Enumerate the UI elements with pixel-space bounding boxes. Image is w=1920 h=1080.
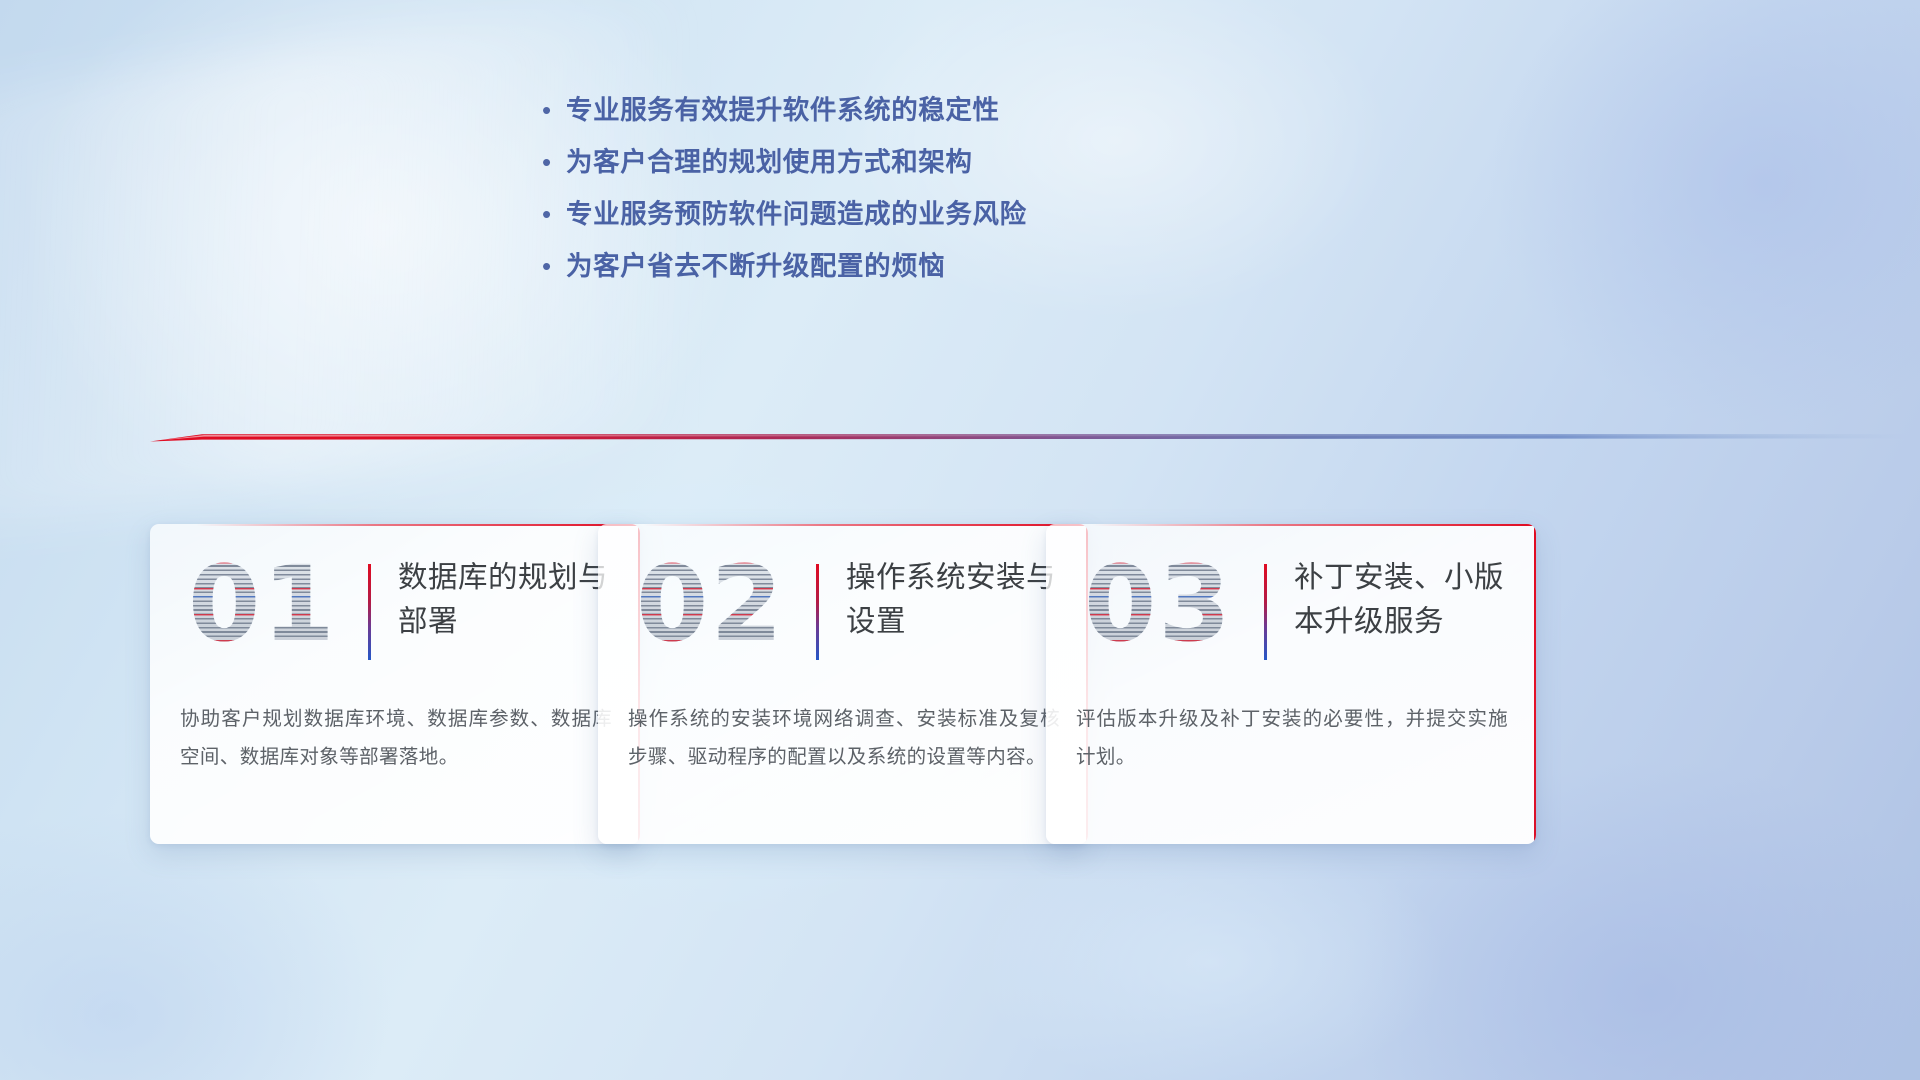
list-item: • 为客户省去不断升级配置的烦恼 (536, 244, 1296, 296)
bullet-point-icon: • (536, 253, 566, 279)
card-number-striped: 03 (1084, 552, 1226, 656)
card-number-striped: 02 (636, 552, 778, 656)
bullet-point-icon: • (536, 149, 566, 175)
bullet-label: 为客户合理的规划使用方式和架构 (566, 140, 973, 179)
list-item: • 专业服务有效提升软件系统的稳定性 (536, 88, 1296, 140)
service-card-01[interactable]: 01 01 数据库的规划与部署 协助客户规划数据库环境、数据库参数、数据库空间、… (150, 524, 640, 844)
card-header: 02 02 操作系统安装与设置 (628, 558, 1058, 676)
bullet-point-icon: • (536, 97, 566, 123)
card-description: 协助客户规划数据库环境、数据库参数、数据库空间、数据库对象等部署落地。 (180, 700, 612, 776)
bullet-label: 专业服务预防软件问题造成的业务风险 (566, 192, 1027, 231)
bullet-label: 为客户省去不断升级配置的烦恼 (566, 244, 945, 283)
service-card-03[interactable]: 03 03 补丁安装、小版本升级服务 评估版本升级及补丁安装的必要性，并提交实施… (1046, 524, 1536, 844)
card-number-watermark: 03 03 (1084, 552, 1226, 664)
card-description: 评估版本升级及补丁安装的必要性，并提交实施计划。 (1076, 700, 1508, 776)
card-title-divider-bar (368, 564, 371, 660)
divider-shape (150, 430, 1910, 446)
bullet-label: 专业服务有效提升软件系统的稳定性 (566, 88, 1000, 127)
service-cards: 01 01 数据库的规划与部署 协助客户规划数据库环境、数据库参数、数据库空间、… (150, 524, 1790, 844)
card-number-watermark: 02 02 (636, 552, 778, 664)
list-item: • 为客户合理的规划使用方式和架构 (536, 140, 1296, 192)
service-card-02[interactable]: 02 02 操作系统安装与设置 操作系统的安装环境网络调查、安装标准及复核步骤、… (598, 524, 1088, 844)
list-item: • 专业服务预防软件问题造成的业务风险 (536, 192, 1296, 244)
card-header: 03 03 补丁安装、小版本升级服务 (1076, 558, 1506, 676)
card-title-divider-bar (816, 564, 819, 660)
card-title: 补丁安装、小版本升级服务 (1294, 556, 1532, 644)
card-title-divider-bar (1264, 564, 1267, 660)
card-number-striped: 01 (188, 552, 330, 656)
bullet-point-icon: • (536, 201, 566, 227)
benefits-bullet-list: • 专业服务有效提升软件系统的稳定性 • 为客户合理的规划使用方式和架构 • 专… (536, 88, 1296, 296)
card-number-watermark: 01 01 (188, 552, 330, 664)
section-divider (150, 430, 1910, 446)
card-header: 01 01 数据库的规划与部署 (180, 558, 610, 676)
card-description: 操作系统的安装环境网络调查、安装标准及复核步骤、驱动程序的配置以及系统的设置等内… (628, 700, 1060, 776)
